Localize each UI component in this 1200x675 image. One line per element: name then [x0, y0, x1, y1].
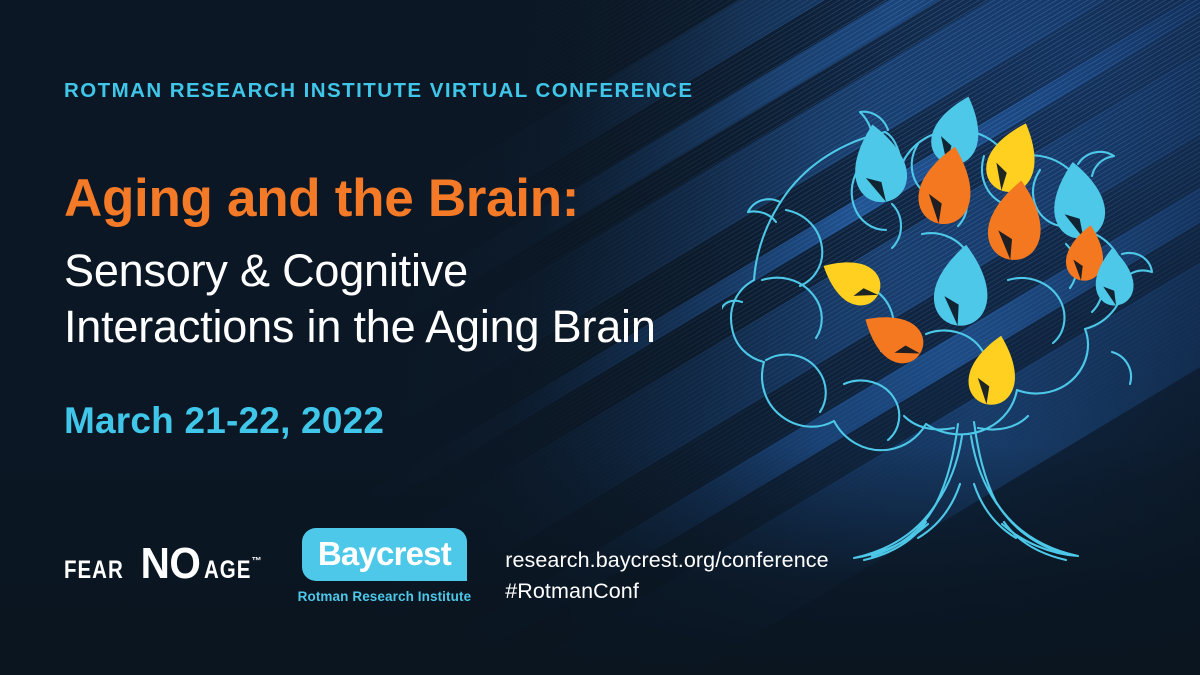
fna-age-text: AGE: [204, 556, 251, 585]
event-dateline: March 21-22, 2022: [64, 400, 384, 442]
baycrest-wordmark: Baycrest: [318, 537, 451, 570]
trademark-symbol: ™: [252, 556, 262, 567]
website-url[interactable]: research.baycrest.org/conference: [505, 545, 828, 576]
subtitle-line-2: Interactions in the Aging Brain: [64, 299, 656, 355]
fna-no-text: NO: [140, 546, 200, 581]
footer-logos: FEAR NO AGE ™ Baycrest Rotman Research I…: [64, 528, 829, 607]
leaf-yellow: [979, 115, 1048, 198]
contact-info: research.baycrest.org/conference #Rotman…: [505, 545, 828, 607]
subtitle-line-1: Sensory & Cognitive: [64, 243, 656, 299]
leaf-cyan: [931, 242, 993, 328]
leaf-cyan: [847, 120, 911, 206]
eyebrow-heading: ROTMAN RESEARCH INSTITUTE VIRTUAL CONFER…: [64, 79, 693, 103]
baycrest-logo-box: Baycrest: [302, 528, 467, 581]
leaf-yellow: [814, 248, 887, 313]
baycrest-tagline: Rotman Research Institute: [298, 589, 472, 604]
leaf-orange: [854, 301, 931, 371]
leaf-orange: [984, 177, 1047, 263]
page-subtitle: Sensory & Cognitive Interactions in the …: [64, 243, 656, 356]
baycrest-logo: Baycrest Rotman Research Institute: [298, 528, 472, 604]
fear-no-age-logo: FEAR NO AGE ™: [64, 546, 272, 585]
conference-poster: ROTMAN RESEARCH INSTITUTE VIRTUAL CONFER…: [0, 0, 1200, 675]
page-title: Aging and the Brain:: [64, 172, 579, 225]
fna-fear-text: FEAR: [64, 556, 124, 585]
leaf-layer: [814, 90, 1135, 409]
hashtag[interactable]: #RotmanConf: [505, 576, 828, 607]
leaf-cyan: [1048, 158, 1109, 241]
